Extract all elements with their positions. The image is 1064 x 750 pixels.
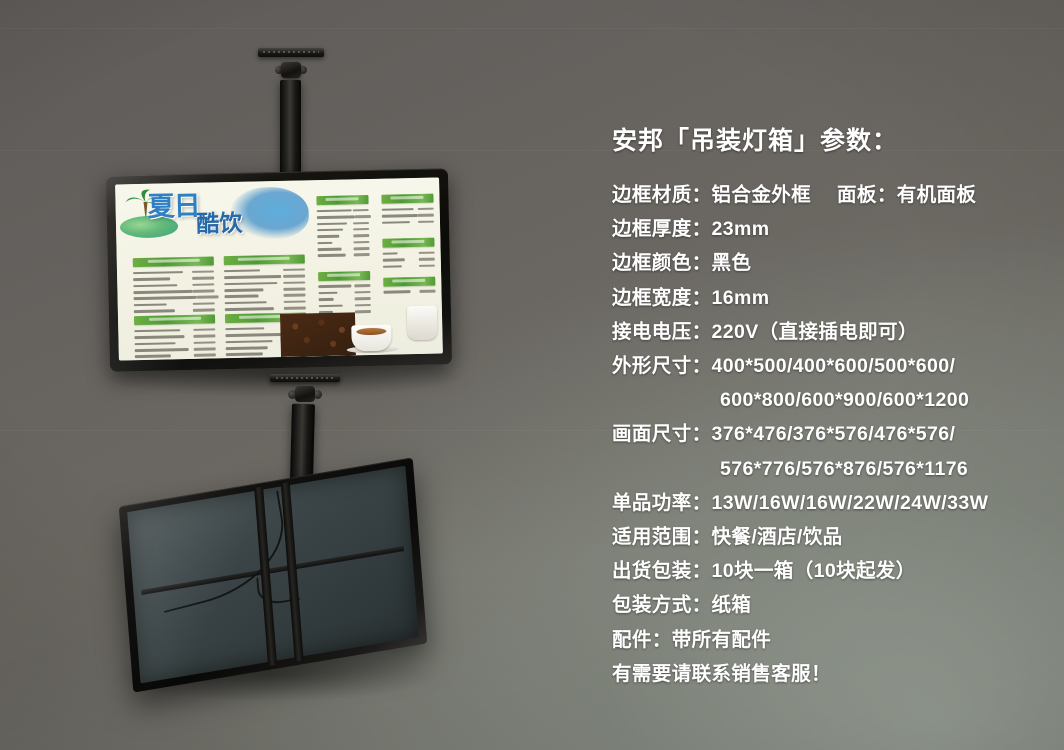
spec-label: 出货包装： [612,560,712,582]
spec-value: 13W/16W/16W/22W/24W/33W [712,492,989,514]
spec-label: 配件： [612,629,672,651]
spec-label: 画面尺寸： [612,423,712,445]
spec-label: 包装方式： [612,594,712,616]
lightbox-front-view: 夏日 酷饮 [106,168,452,371]
menu-section-header [224,254,305,265]
spec-value: 铝合金外框 [712,184,812,206]
spec-row-application: 适用范围：快餐/酒店/饮品 [612,520,1048,554]
spec-value: 23mm [712,218,770,240]
coffee-beans-art [280,313,355,357]
spec-value: 376*476/376*576/476*576/ [712,423,956,445]
spec-row-graphic-size-cont: 576*776/576*876/576*1176 [612,452,1048,486]
spec-row-frame-width: 边框宽度：16mm [612,281,1048,315]
ceiling-mount-upper [258,48,324,176]
product-image-canvas: 夏日 酷饮 [0,0,1064,750]
menu-section-header [381,193,433,203]
swivel-knuckle-icon [295,386,315,402]
menu-section [382,237,434,269]
menu-section [316,195,369,259]
spec-label: 边框宽度： [612,287,712,309]
menu-hero-art: 夏日 酷饮 [115,180,317,255]
spec-value: 带所有配件 [672,629,772,651]
spec-value: 10块一箱（10块起发） [712,560,916,582]
menu-artwork: 夏日 酷饮 [115,177,443,360]
spec-label: 单品功率： [612,492,712,514]
spec-value-panel: 有机面板 [897,184,977,206]
contact-call-to-action: 有需要请联系销售客服！ [612,657,1048,691]
menu-section [133,256,215,321]
menu-section-header [382,237,434,247]
spec-label: 接电电压： [612,321,712,343]
spec-row-frame-material: 边框材质：铝合金外框面板：有机面板 [612,178,1048,212]
menu-row [383,288,435,296]
spec-label: 边框材质： [612,184,712,206]
menu-section-header [316,195,368,205]
page-title: 安邦「吊装灯箱」参数： [612,126,1048,156]
menu-section-header [133,256,214,267]
menu-row [318,252,370,260]
spec-label: 外形尺寸： [612,355,712,377]
menu-section-header [383,276,435,286]
ceiling-plate-icon [270,374,340,382]
spec-value: 16mm [712,287,770,309]
coffee-cup-art [351,324,392,351]
menu-section [134,314,216,360]
spec-value: 220V（直接插电即可） [712,321,918,343]
spec-row-outer-size: 外形尺寸：400*500/400*600/500*600/ [612,349,1048,383]
spec-row-graphic-size: 画面尺寸：376*476/376*576/476*576/ [612,417,1048,451]
menu-hero-title-1: 夏日 [147,193,200,221]
swivel-knuckle-icon [281,62,301,78]
specification-panel: 安邦「吊装灯箱」参数： 边框材质：铝合金外框面板：有机面板 边框厚度：23mm … [612,126,1048,691]
spec-row-packaging: 包装方式：纸箱 [612,588,1048,622]
menu-row [383,262,435,270]
ceiling-plate-icon [258,48,324,57]
spec-value: 400*500/400*600/500*600/ [712,355,956,377]
spec-value: 黑色 [712,252,752,274]
mount-pole-upper [280,80,301,176]
spec-label: 边框颜色： [612,252,712,274]
menu-section [381,193,433,225]
spec-value: 快餐/酒店/饮品 [712,526,843,548]
spec-row-shipping-pack: 出货包装：10块一箱（10块起发） [612,554,1048,588]
spec-row-power: 单品功率：13W/16W/16W/22W/24W/33W [612,486,1048,520]
spec-label: 边框厚度： [612,218,712,240]
frame-crossbar [141,546,404,595]
spec-row-accessories: 配件：带所有配件 [612,623,1048,657]
background-band [0,28,1064,29]
menu-section-header [134,314,215,325]
coffee-photo [280,299,443,357]
menu-row [382,218,434,226]
menu-hero-title-2: 酷饮 [196,212,242,236]
menu-section-header [318,271,370,281]
spec-label: 适用范围： [612,526,712,548]
spec-label-panel: 面板： [837,184,897,206]
coffee-cup-secondary-art [407,305,438,340]
lightbox-display-panel: 夏日 酷饮 [115,177,443,360]
spec-row-outer-size-cont: 600*800/600*900/600*1200 [612,383,1048,417]
spec-row-frame-color: 边框颜色：黑色 [612,246,1048,280]
spec-row-frame-thickness: 边框厚度：23mm [612,212,1048,246]
menu-hero-text-2: 酷饮 [196,210,243,237]
spec-row-voltage: 接电电压：220V（直接插电即可） [612,315,1048,349]
spec-value: 纸箱 [712,594,752,616]
menu-section [383,276,435,296]
menu-hero-text-1: 夏日 [147,191,200,222]
